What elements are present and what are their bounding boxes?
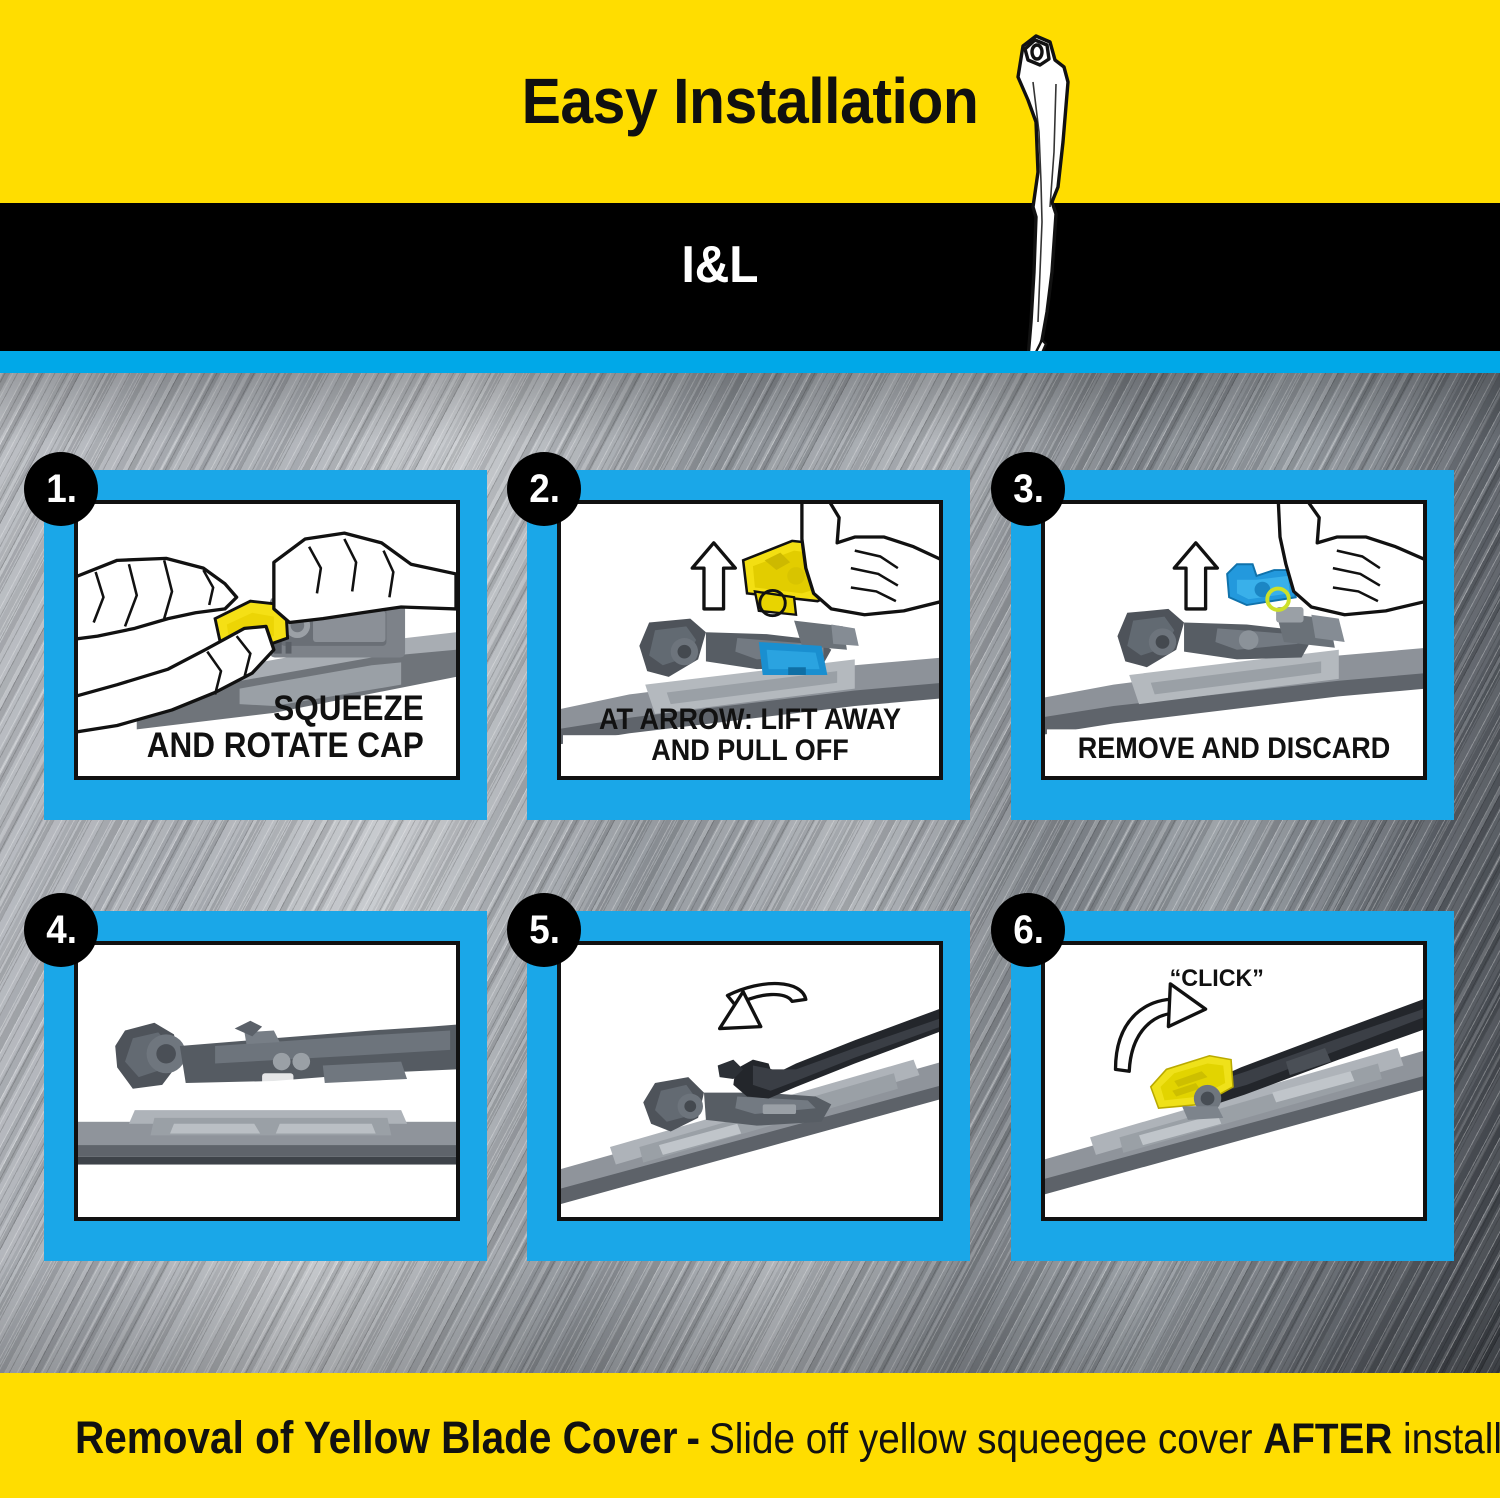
step-5-number: 5.: [528, 910, 561, 950]
step-4-number: 4.: [45, 910, 78, 950]
step-1-image: SQUEEZE AND ROTATE CAP: [74, 500, 460, 780]
step-3-image: REMOVE AND DISCARD: [1041, 500, 1427, 780]
footer-note: Removal of Yellow Blade Cover-Slide off …: [75, 1412, 1425, 1464]
step-1-frame: SQUEEZE AND ROTATE CAP: [44, 470, 487, 820]
footer-emphasis: AFTER: [1263, 1415, 1403, 1463]
step-6-frame: “CLICK”: [1011, 911, 1454, 1261]
blue-divider-strip: [0, 351, 1500, 375]
footer-text-after: installation.: [1403, 1415, 1500, 1463]
step-4-frame: [44, 911, 487, 1261]
step-panel-2[interactable]: AT ARROW: LIFT AWAY AND PULL OFF 2.: [527, 470, 970, 820]
step-panel-4[interactable]: 4.: [44, 911, 487, 1261]
step-3-number: 3.: [1012, 469, 1045, 509]
installation-instructions-page: Easy Installation I&L: [0, 0, 1500, 1498]
step-6-number: 6.: [1012, 910, 1045, 950]
step-panel-5[interactable]: 5.: [527, 911, 970, 1261]
step-2-frame: AT ARROW: LIFT AWAY AND PULL OFF: [527, 470, 970, 820]
step-4-image: [74, 941, 460, 1221]
step-1-badge: 1.: [24, 452, 98, 526]
step-2-number: 2.: [528, 469, 561, 509]
step-5-image: [557, 941, 943, 1221]
step-5-frame: [527, 911, 970, 1261]
footer-dash: -: [677, 1412, 709, 1463]
step-panel-6[interactable]: “CLICK” 6.: [1011, 911, 1454, 1261]
steps-grid: SQUEEZE AND ROTATE CAP 1.: [0, 373, 1500, 1373]
step-6-badge: 6.: [991, 893, 1065, 967]
brand-name: I&L: [58, 236, 1383, 294]
step-4-badge: 4.: [24, 893, 98, 967]
step-1-number: 1.: [45, 469, 78, 509]
step-1-caption: SQUEEZE AND ROTATE CAP: [96, 691, 424, 764]
step-5-badge: 5.: [507, 893, 581, 967]
step-2-badge: 2.: [507, 452, 581, 526]
step-2-caption: AT ARROW: LIFT AWAY AND PULL OFF: [580, 704, 920, 766]
step-3-badge: 3.: [991, 452, 1065, 526]
page-title: Easy Installation: [60, 66, 1440, 136]
wiper-blade-icon: [978, 22, 1128, 367]
step-2-image: AT ARROW: LIFT AWAY AND PULL OFF: [557, 500, 943, 780]
footer-heading: Removal of Yellow Blade Cover: [75, 1412, 677, 1463]
step-6-image: “CLICK”: [1041, 941, 1427, 1221]
step-3-frame: REMOVE AND DISCARD: [1011, 470, 1454, 820]
step-3-caption: REMOVE AND DISCARD: [1064, 733, 1404, 764]
footer-text-before: Slide off yellow squeegee cover: [709, 1415, 1263, 1463]
step-panel-1[interactable]: SQUEEZE AND ROTATE CAP 1.: [44, 470, 487, 820]
svg-text:“CLICK”: “CLICK”: [1170, 964, 1264, 992]
step-panel-3[interactable]: REMOVE AND DISCARD 3.: [1011, 470, 1454, 820]
